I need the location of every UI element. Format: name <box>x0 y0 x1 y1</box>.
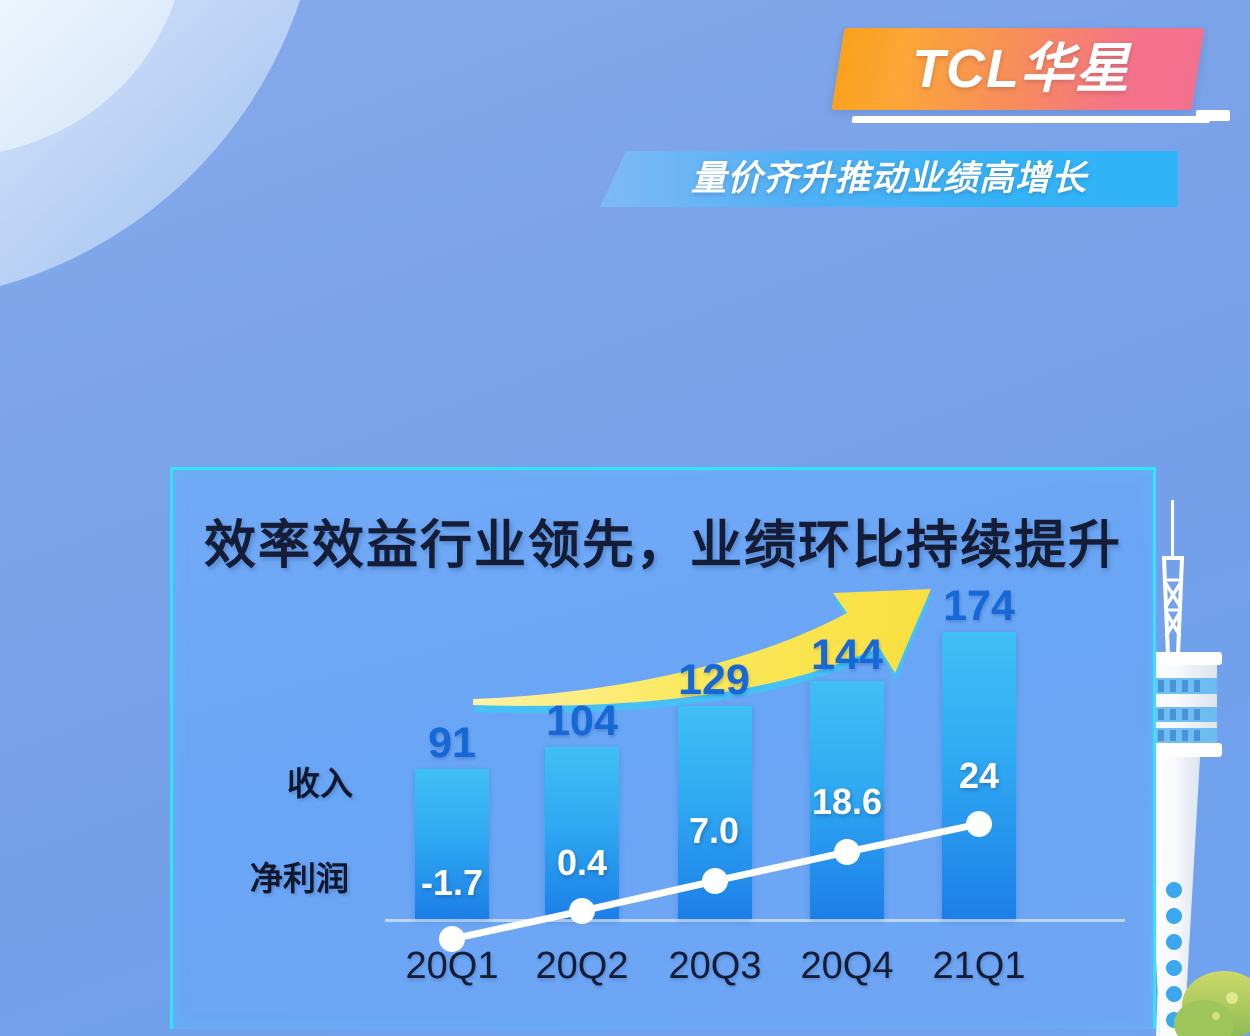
quarterly-performance-chart: 收入 净利润 91 104 129 144 174 -1.7 0.4 7.0 1… <box>170 467 1156 1029</box>
cat-label-20q4: 20Q4 <box>777 945 917 988</box>
cat-label-20q3: 20Q3 <box>645 945 785 988</box>
point-value-20q3: 7.0 <box>649 810 779 852</box>
bar-20q2 <box>545 747 619 919</box>
cat-label-21q1: 21Q1 <box>909 945 1049 988</box>
logo-underline-tip <box>1196 110 1230 121</box>
bar-value-20q3: 129 <box>649 656 779 705</box>
cat-label-20q2: 20Q2 <box>512 945 652 988</box>
tcl-logo-text: TCL华星 <box>862 36 1180 102</box>
point-value-20q4: 18.6 <box>782 781 912 823</box>
subtitle-text: 量价齐升推动业绩高增长 <box>600 152 1178 206</box>
bushes-icon <box>1174 971 1250 1036</box>
point-value-20q2: 0.4 <box>517 842 647 884</box>
bar-value-21q1: 174 <box>914 582 1044 631</box>
point-value-21q1: 24 <box>914 755 1044 797</box>
bar-value-20q4: 144 <box>782 631 912 680</box>
bar-value-20q2: 104 <box>517 697 647 746</box>
chart-baseline <box>385 919 1125 922</box>
slide-canvas: TCL华星 量价齐升推动业绩高增长 <box>0 0 1250 1036</box>
logo-underline <box>851 116 1210 123</box>
legend-profit-label: 净利润 <box>250 852 349 900</box>
point-value-20q1: -1.7 <box>387 862 517 904</box>
corner-wave-icon <box>0 0 560 330</box>
bar-value-20q1: 91 <box>387 719 517 768</box>
legend-revenue-label: 收入 <box>287 757 353 805</box>
cat-label-20q1: 20Q1 <box>382 945 522 988</box>
